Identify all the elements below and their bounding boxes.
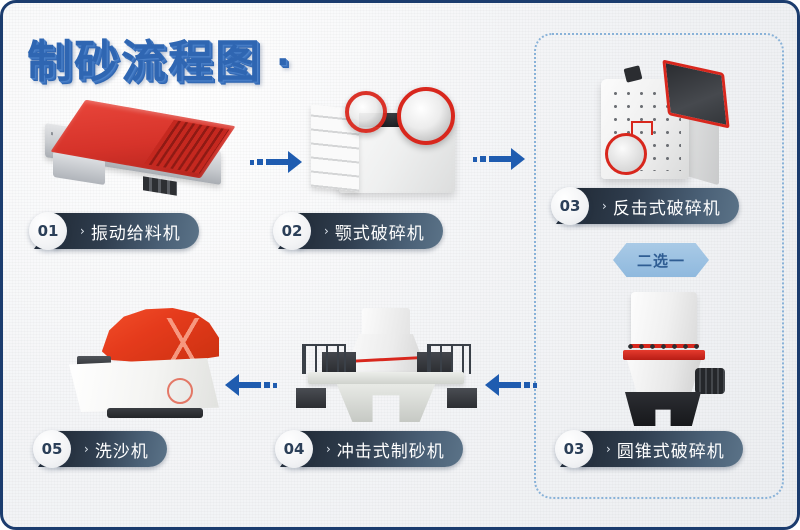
choose-one-badge: 二选一 — [613, 243, 709, 277]
chevron-right-icon: › — [326, 442, 332, 456]
chevron-right-icon: › — [606, 442, 612, 456]
step-label-text: 洗沙机 — [95, 437, 149, 462]
step-number-badge: 04 — [275, 430, 313, 468]
step-label-text: 反击式破碎机 — [613, 194, 721, 219]
step-label-text: 颚式破碎机 — [335, 219, 425, 244]
step-number-badge: 02 — [273, 212, 311, 250]
step-label-text: 振动给料机 — [91, 219, 181, 244]
chevron-right-icon: › — [602, 199, 608, 213]
step-label-04-vsi-sand-maker[interactable]: 04 › 冲击式制砂机 — [275, 430, 463, 468]
flowchart-canvas: 制砂流程图 · — [0, 0, 800, 530]
step-number-badge: 05 — [33, 430, 71, 468]
step-pill[interactable]: › 洗沙机 — [58, 431, 167, 467]
machine-image-vsi-sand-maker — [288, 308, 483, 426]
flywheel-icon — [345, 91, 387, 133]
chevron-right-icon: › — [80, 224, 86, 238]
step-pill[interactable]: › 圆锥式破碎机 — [580, 431, 743, 467]
step-number-badge: 03 — [555, 430, 593, 468]
step-label-03-cone-crusher[interactable]: 03 › 圆锥式破碎机 — [555, 430, 743, 468]
machine-image-cone-crusher — [603, 288, 743, 428]
step-pill[interactable]: › 反击式破碎机 — [576, 188, 739, 224]
machine-image-sand-washer — [69, 308, 254, 420]
step-label-02-jaw-crusher[interactable]: 02 › 颚式破碎机 — [273, 212, 443, 250]
step-label-text: 圆锥式破碎机 — [617, 437, 725, 462]
machine-image-vibrating-feeder — [31, 107, 246, 202]
machine-image-impact-crusher — [583, 51, 738, 191]
step-pill[interactable]: › 颚式破碎机 — [298, 213, 443, 249]
arrow-crusher-to-vsi — [485, 374, 537, 396]
arrow-feeder-to-jaw — [250, 151, 302, 173]
arrow-vsi-to-washer — [225, 374, 277, 396]
step-pill[interactable]: › 振动给料机 — [54, 213, 199, 249]
arrow-jaw-to-crusher — [473, 148, 525, 170]
chevron-right-icon: › — [84, 442, 90, 456]
flywheel-icon — [397, 87, 455, 145]
step-number-badge: 01 — [29, 212, 67, 250]
step-pill[interactable]: › 冲击式制砂机 — [300, 431, 463, 467]
step-number-badge: 03 — [551, 187, 589, 225]
step-label-01-vibrating-feeder[interactable]: 01 › 振动给料机 — [29, 212, 199, 250]
step-label-05-sand-washer[interactable]: 05 › 洗沙机 — [33, 430, 167, 468]
step-label-03-impact-crusher[interactable]: 03 › 反击式破碎机 — [551, 187, 739, 225]
page-title: 制砂流程图 · — [27, 25, 294, 90]
chevron-right-icon: › — [324, 224, 330, 238]
step-label-text: 冲击式制砂机 — [337, 437, 445, 462]
machine-image-jaw-crusher — [309, 73, 474, 198]
